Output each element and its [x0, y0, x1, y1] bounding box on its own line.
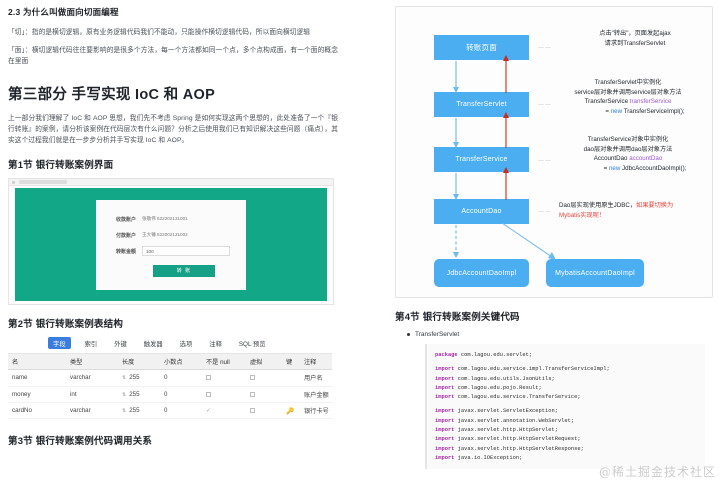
- cell-decimals: 0: [160, 370, 202, 386]
- amount-input[interactable]: 100: [142, 246, 230, 256]
- check-mark-icon[interactable]: ✓: [206, 408, 211, 414]
- cell-length: ⇅255: [118, 370, 160, 386]
- call-relationship-diagram: 转账页面 TransferServlet TransferService Acc…: [395, 6, 713, 298]
- col-virtual: 虚拟: [246, 354, 282, 370]
- annotation-3-line-1: TransferService对象中实例化: [544, 135, 712, 145]
- code-block: package com.lagou.edu.servlet; import co…: [425, 344, 705, 469]
- annotation-2-line-1: TransferServlet中实例化: [544, 78, 712, 88]
- payer-value: 王大锤 622002121002: [142, 232, 188, 238]
- cell-type: int: [66, 386, 118, 402]
- col-length: 长度: [118, 354, 160, 370]
- section-2-3-paragraph-2: 「面」：横切逻辑代码往往要影响的是很多个方法，每一个方法都如同一个点，多个点构成…: [8, 45, 338, 67]
- tab-options[interactable]: 选项: [177, 337, 196, 349]
- form-row-payer: 付款账户 王大锤 622002121002: [112, 229, 230, 242]
- code-line: import javax.servlet.http.HttpServletReq…: [435, 435, 697, 444]
- bullet-icon: [407, 333, 410, 336]
- amount-label: 转账金额: [112, 248, 142, 255]
- col-type: 类型: [66, 354, 118, 370]
- annotation-2-line-4: = new TransferServiceImpl();: [544, 107, 712, 117]
- annotation-4-line-1: Dao层实现使用原生JDBC，如果要切换为: [559, 201, 711, 211]
- stepper-icon[interactable]: ⇅: [122, 392, 126, 398]
- browser-toolbar: [9, 179, 333, 186]
- code-line: import javax.servlet.annotation.WebServl…: [435, 417, 697, 426]
- right-column: 转账页面 TransferServlet TransferService Acc…: [395, 0, 720, 481]
- annotation-3-line-4: = new JdbcAccountDaoImpl();: [544, 164, 712, 174]
- annotation-1-line-2: 请求到TransferServlet: [561, 39, 709, 49]
- payee-label: 收款账户: [112, 216, 142, 223]
- section-2-heading: 第2节 银行转账案例表结构: [8, 316, 338, 330]
- code-line: import com.lagou.edu.service.impl.Transf…: [435, 365, 697, 374]
- annotation-1: 点击"转出"，页面发起ajax 请求到TransferServlet: [561, 29, 709, 48]
- tab-comments[interactable]: 注释: [206, 337, 225, 349]
- section-2-3-paragraph-1: 「切」：指的是横切逻辑，原有业务逻辑代码我们不能动，只能操作横切逻辑代码，所以面…: [8, 27, 338, 38]
- stepper-icon[interactable]: ⇅: [122, 375, 126, 381]
- tab-sql-preview[interactable]: SQL 预览: [236, 337, 269, 349]
- annotation-3-line-2: dao层对象并调用dao层对象方法: [544, 145, 712, 155]
- cell-virtual[interactable]: [246, 386, 282, 402]
- cell-key: [282, 370, 300, 386]
- cell-name: name: [8, 370, 66, 386]
- checkbox-virtual[interactable]: [250, 392, 255, 397]
- annotation-3-line-3: AccountDao accountDao: [544, 154, 712, 164]
- annotation-3: TransferService对象中实例化 dao层对象并调用dao层对象方法 …: [544, 135, 712, 173]
- table-row[interactable]: money int ⇅255 0 账户金额: [8, 386, 332, 402]
- cell-virtual[interactable]: [246, 403, 282, 419]
- cell-key: [282, 386, 300, 402]
- tab-indexes[interactable]: 索引: [82, 337, 101, 349]
- cell-notnull[interactable]: [202, 386, 246, 402]
- code-line: import java.io.IOException;: [435, 454, 697, 463]
- checkbox-notnull[interactable]: [206, 375, 211, 380]
- col-key: 键: [282, 354, 300, 370]
- annotation-4: Dao层实现使用原生JDBC，如果要切换为 Mybatis实现呢！: [559, 201, 711, 220]
- part-3-intro: 上一部分我们理解了 IoC 和 AOP 思想，我们先不考虑 Spring 是如何…: [8, 113, 338, 146]
- annotation-2: TransferServlet中实例化 service层对象并调用service…: [544, 78, 712, 116]
- cell-name: money: [8, 386, 66, 402]
- col-decimals: 小数点: [160, 354, 202, 370]
- cell-name: cardNo: [8, 403, 66, 419]
- code-line: import javax.servlet.http.HttpServlet;: [435, 426, 697, 435]
- cell-decimals: 0: [160, 386, 202, 402]
- cell-virtual[interactable]: [246, 370, 282, 386]
- form-row-payee: 收款账户 张敬伟 622202131001: [112, 213, 230, 226]
- diagram-arrow-diagonal: [496, 217, 606, 277]
- form-row-amount: 转账金额 100: [112, 245, 230, 258]
- code-line: import com.lagou.edu.pojo.Result;: [435, 384, 697, 393]
- browser-url-bar[interactable]: [19, 180, 67, 184]
- annotation-2-line-2: service层对象并调用service层对象方法: [544, 88, 712, 98]
- cell-comment: 账户金额: [300, 386, 332, 402]
- stepper-icon[interactable]: ⇅: [122, 408, 126, 414]
- table-row[interactable]: name varchar ⇅255 0 用户名: [8, 370, 332, 386]
- cell-comment: 用户名: [300, 370, 332, 386]
- cell-type: varchar: [66, 370, 118, 386]
- checkbox-virtual[interactable]: [250, 408, 255, 413]
- table-header-row: 名 类型 长度 小数点 不是 null 虚拟 键 注释: [8, 354, 332, 370]
- checkbox-notnull[interactable]: [206, 392, 211, 397]
- cell-notnull[interactable]: [202, 370, 246, 386]
- db-field-table: 名 类型 长度 小数点 不是 null 虚拟 键 注释 name varchar: [8, 353, 332, 419]
- payer-label: 付款账户: [112, 232, 142, 239]
- cell-length: ⇅255: [118, 403, 160, 419]
- code-line: import javax.servlet.http.HttpServletRes…: [435, 445, 697, 454]
- section-3-heading: 第3节 银行转账案例代码调用关系: [8, 433, 338, 447]
- cell-key: 🔑: [282, 403, 300, 419]
- browser-dot-icon: [12, 181, 15, 184]
- section-2-3-heading: 2.3 为什么叫做面向切面编程: [8, 6, 338, 18]
- part-3-heading: 第三部分 手写实现 IoC 和 AOP: [8, 83, 338, 104]
- app-background: 收款账户 张敬伟 622202131001 付款账户 王大锤 622002121…: [15, 188, 327, 301]
- left-column: 2.3 为什么叫做面向切面编程 「切」：指的是横切逻辑，原有业务逻辑代码我们不能…: [0, 0, 350, 481]
- payee-value: 张敬伟 622202131001: [142, 216, 188, 222]
- annotation-2-line-3: TransferService transferService: [544, 97, 712, 107]
- submit-row: 转 账: [112, 265, 230, 277]
- tab-foreign-keys[interactable]: 外键: [111, 337, 130, 349]
- browser-screenshot: 收款账户 张敬伟 622202131001 付款账户 王大锤 622002121…: [8, 178, 334, 305]
- section-1-heading: 第1节 银行转账案例界面: [8, 157, 338, 171]
- annotation-4-line-2: Mybatis实现呢！: [559, 211, 711, 221]
- annotation-1-line-1: 点击"转出"，页面发起ajax: [561, 29, 709, 39]
- db-tabs: 字段 索引 外键 触发器 选项 注释 SQL 预览: [48, 337, 338, 349]
- code-bullet-item: TransferServlet: [407, 331, 720, 338]
- cell-notnull[interactable]: ✓: [202, 403, 246, 419]
- code-line: package com.lagou.edu.servlet;: [435, 351, 697, 360]
- table-row[interactable]: cardNo varchar ⇅255 0 ✓ 🔑 银行卡号: [8, 403, 332, 419]
- transfer-submit-button[interactable]: 转 账: [153, 265, 215, 277]
- tab-fields[interactable]: 字段: [48, 337, 71, 349]
- cell-comment: 银行卡号: [300, 403, 332, 419]
- code-bullet-label: TransferServlet: [415, 331, 459, 338]
- section-4-heading: 第4节 银行转账案例关键代码: [395, 309, 720, 323]
- cell-decimals: 0: [160, 403, 202, 419]
- checkbox-virtual[interactable]: [250, 375, 255, 380]
- tab-triggers[interactable]: 触发器: [141, 337, 166, 349]
- primary-key-icon: 🔑: [286, 408, 294, 415]
- code-line: import javax.servlet.ServletException;: [435, 407, 697, 416]
- leader-dots-1: ……: [538, 44, 552, 50]
- code-line: import com.lagou.edu.service.TransferSer…: [435, 393, 697, 402]
- col-notnull: 不是 null: [202, 354, 246, 370]
- leader-dots-4: ……: [538, 208, 552, 214]
- code-line: import com.lagou.edu.utils.JsonUtils;: [435, 375, 697, 384]
- watermark: @稀土掘金技术社区: [599, 463, 716, 480]
- page-root: 2.3 为什么叫做面向切面编程 「切」：指的是横切逻辑，原有业务逻辑代码我们不能…: [0, 0, 720, 481]
- cell-type: varchar: [66, 403, 118, 419]
- cell-length: ⇅255: [118, 386, 160, 402]
- transfer-form-card: 收款账户 张敬伟 622202131001 付款账户 王大锤 622002121…: [96, 200, 246, 290]
- col-comment: 注释: [300, 354, 332, 370]
- col-name: 名: [8, 354, 66, 370]
